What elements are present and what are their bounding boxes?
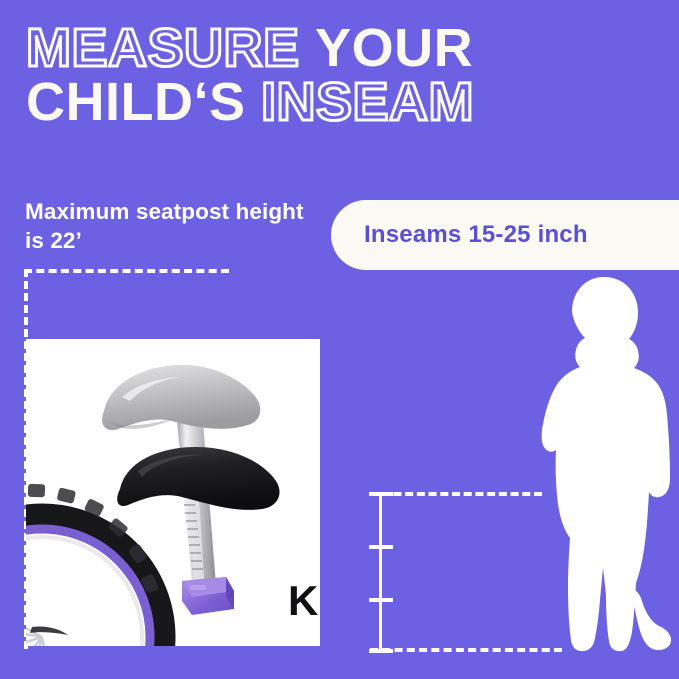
ruler-tick-mid-upper [369, 545, 393, 549]
inseam-dash-bottom [370, 648, 562, 652]
headline-word-your: YOUR [315, 18, 473, 78]
ruler-tick-top [369, 492, 393, 496]
inseam-range-pill: Inseams 15-25 inch [331, 200, 679, 270]
photo-brand-mark: K [288, 577, 318, 624]
headline-line-1: MEASURE YOUR [26, 23, 646, 74]
headline-word-inseam: INSEAM [261, 72, 474, 132]
seatpost-photo: K [26, 339, 320, 646]
seatpost-photo-artwork: K [26, 339, 320, 646]
ruler-tick-mid-lower [369, 598, 393, 602]
purple-seat-clamp [182, 577, 234, 615]
inseam-dash-top [370, 492, 542, 496]
inseam-infographic: MEASURE YOUR CHILD‘S INSEAM Maximum seat… [0, 0, 679, 679]
headline-word-childs: CHILD‘S [26, 72, 246, 132]
seatpost-note: Maximum seatpost height is 22’ [25, 198, 315, 255]
guide-dashed-top [24, 269, 229, 273]
headline-line-2: CHILD‘S INSEAM [26, 77, 646, 128]
page-title: MEASURE YOUR CHILD‘S INSEAM [26, 23, 646, 129]
inseam-ruler-line [379, 494, 382, 653]
ruler-tick-bottom [369, 649, 393, 653]
inseam-range-label: Inseams 15-25 inch [364, 221, 588, 249]
headline-word-measure: MEASURE [26, 18, 300, 78]
